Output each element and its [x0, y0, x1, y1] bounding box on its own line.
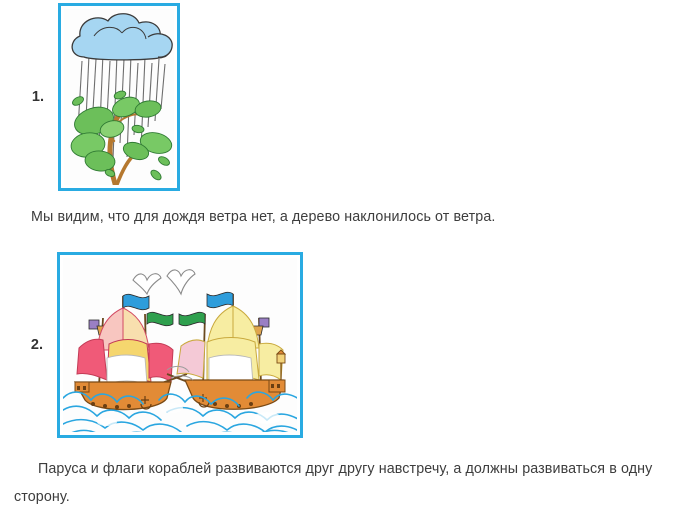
list-item: 1. — [18, 2, 180, 192]
list-marker-2: 2. — [17, 337, 43, 353]
cloud-shape — [72, 14, 172, 60]
two-sailing-ships-illustration — [63, 258, 297, 432]
caption-paragraph-2: Паруса и флаги кораблей развиваются друг… — [14, 455, 664, 511]
caption-paragraph-1: Мы видим, что для дождя ветра нет, а дер… — [31, 203, 631, 231]
list-marker-1: 1. — [18, 89, 44, 105]
flag-green — [179, 312, 205, 325]
flag-green — [147, 312, 173, 325]
tree-foliage — [69, 93, 173, 172]
figure-rain-tree-canvas — [64, 9, 174, 185]
figure-two-ships — [57, 252, 303, 438]
figure-rain-tree — [58, 3, 180, 191]
right-ship-yellow-sails — [167, 292, 285, 409]
seagull-icon — [133, 270, 195, 294]
figure-two-ships-canvas — [63, 258, 297, 432]
left-ship-pink-sails — [75, 294, 187, 409]
list-item: 2. — [17, 252, 303, 438]
rain-cloud-tree-illustration — [64, 9, 174, 185]
flag-blue — [123, 294, 149, 309]
flag-blue — [207, 292, 233, 307]
